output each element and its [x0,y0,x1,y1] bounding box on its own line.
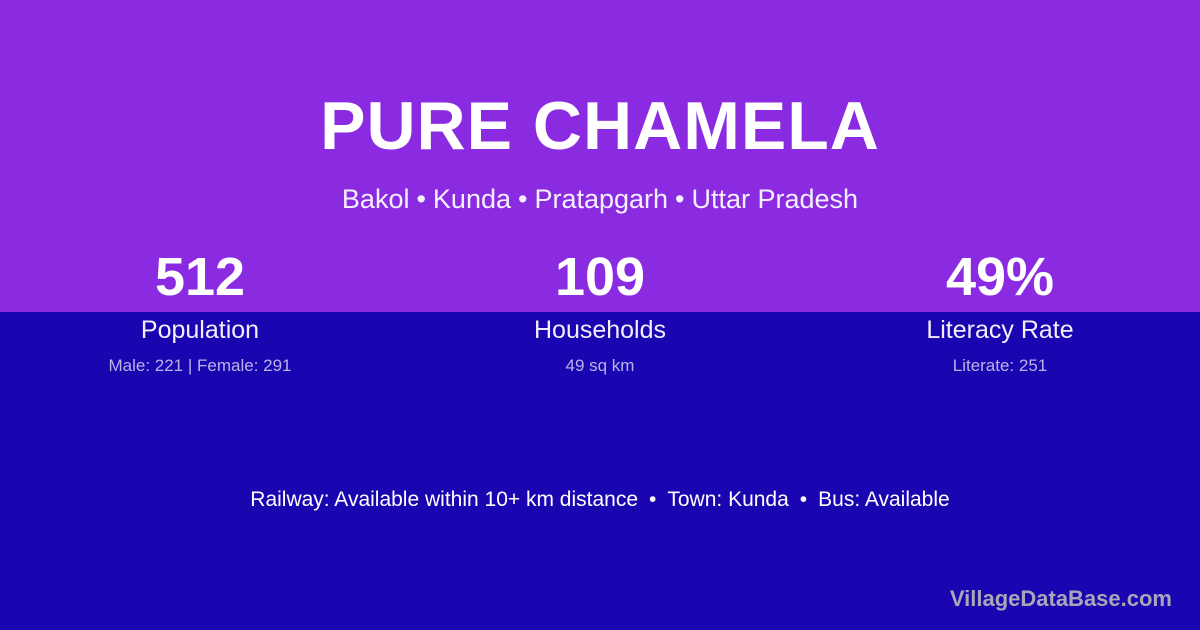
stat-population: 512 Population Male: 221 | Female: 291 [0,246,400,377]
stat-value: 109 [400,246,800,308]
facility-railway: Railway: Available within 10+ km distanc… [250,488,638,511]
stat-households: 109 Households 49 sq km [400,246,800,377]
page-title: PURE CHAMELA [0,86,1200,166]
card-content: PURE CHAMELA Bakol•Kunda•Pratapgarh•Utta… [0,0,1200,630]
breadcrumb-item-block: Kunda [433,184,511,214]
breadcrumb-separator: • [409,182,432,216]
breadcrumb-item-state: Uttar Pradesh [692,184,859,214]
breadcrumb-separator: • [668,182,691,216]
facility-separator: • [638,486,667,514]
facility-bus: Bus: Available [818,488,950,511]
facilities-line: Railway: Available within 10+ km distanc… [0,486,1200,514]
stat-literacy-rate: 49% Literacy Rate Literate: 251 [800,246,1200,377]
stat-detail: Male: 221 | Female: 291 [0,355,400,377]
stats-row: 512 Population Male: 221 | Female: 291 1… [0,246,1200,377]
stat-detail: Literate: 251 [800,355,1200,377]
stat-detail: 49 sq km [400,355,800,377]
stat-value: 512 [0,246,400,308]
site-branding: VillageDataBase.com [950,585,1172,613]
facility-town: Town: Kunda [667,488,788,511]
breadcrumb: Bakol•Kunda•Pratapgarh•Uttar Pradesh [0,182,1200,216]
stat-value: 49% [800,246,1200,308]
breadcrumb-item-district: Pratapgarh [534,184,668,214]
breadcrumb-separator: • [511,182,534,216]
stat-label: Households [400,315,800,345]
stat-label: Literacy Rate [800,315,1200,345]
facility-separator: • [789,486,818,514]
village-info-card: PURE CHAMELA Bakol•Kunda•Pratapgarh•Utta… [0,0,1200,630]
stat-label: Population [0,315,400,345]
breadcrumb-item-village: Bakol [342,184,410,214]
